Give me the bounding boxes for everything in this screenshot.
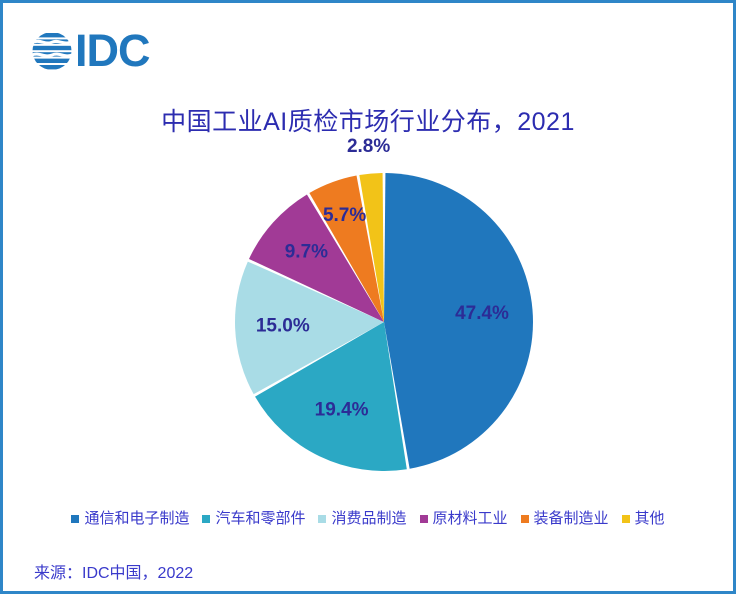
legend-label: 其他 [635, 511, 665, 526]
legend-swatch-icon [318, 515, 326, 523]
pie-slice-label: 9.7% [285, 241, 328, 262]
legend-swatch-icon [622, 515, 630, 523]
pie-slice-label: 19.4% [315, 400, 369, 421]
source-note: 来源：IDC中国，2022 [34, 559, 193, 583]
pie-slice-label: 5.7% [323, 205, 366, 226]
legend-label: 通信和电子制造 [84, 511, 189, 526]
legend-label: 消费品制造 [331, 511, 406, 526]
pie-slice-label: 15.0% [256, 316, 310, 337]
legend-swatch-icon [420, 515, 428, 523]
pie-slice-label: 47.4% [455, 303, 509, 324]
legend-item[interactable]: 装备制造业 [521, 511, 609, 526]
legend-item[interactable]: 通信和电子制造 [71, 511, 189, 526]
legend-item[interactable]: 消费品制造 [318, 511, 406, 526]
legend-item[interactable]: 原材料工业 [420, 511, 508, 526]
pie-chart-svg: 47.4%19.4%15.0%9.7%5.7%2.8% [3, 3, 736, 503]
legend-label: 汽车和零部件 [215, 511, 305, 526]
legend-label: 装备制造业 [534, 511, 609, 526]
chart-legend: 通信和电子制造汽车和零部件消费品制造原材料工业装备制造业其他 [3, 511, 733, 526]
chart-page: IDC 中国工业AI质检市场行业分布，2021 47.4%19.4%15.0%9… [0, 0, 736, 594]
pie-slice-label: 2.8% [347, 136, 390, 157]
legend-label: 原材料工业 [433, 511, 508, 526]
legend-swatch-icon [202, 515, 210, 523]
legend-swatch-icon [521, 515, 529, 523]
legend-item[interactable]: 其他 [622, 511, 665, 526]
pie-chart: 47.4%19.4%15.0%9.7%5.7%2.8% [3, 3, 736, 503]
legend-swatch-icon [71, 515, 79, 523]
legend-item[interactable]: 汽车和零部件 [202, 511, 305, 526]
